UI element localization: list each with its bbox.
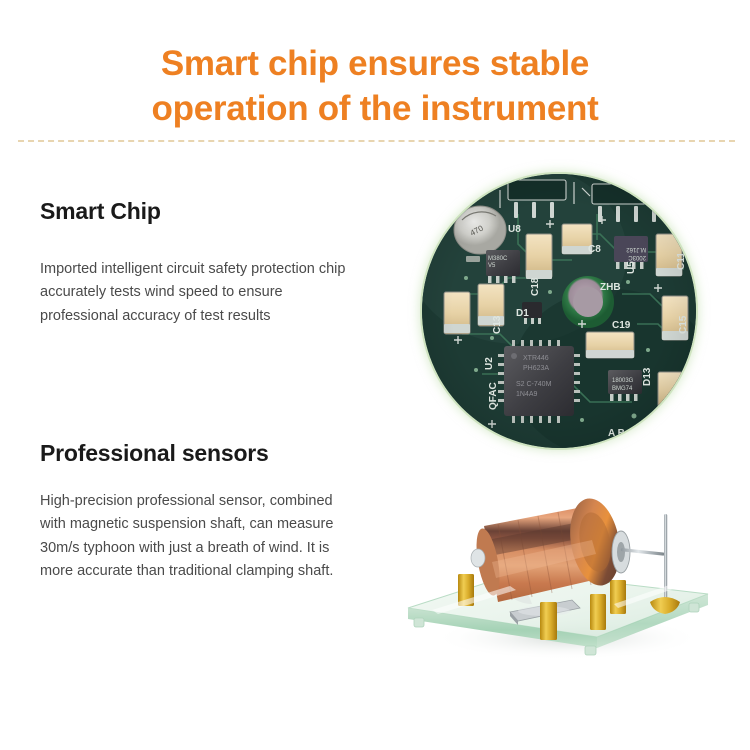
- header: Smart chip ensures stable operation of t…: [0, 42, 750, 132]
- infographic-page: Smart chip ensures stable operation of t…: [0, 0, 750, 750]
- gold-post: [610, 580, 626, 614]
- page-title-line-1: Smart chip ensures stable: [70, 42, 680, 87]
- svg-text:XTR446: XTR446: [523, 355, 549, 362]
- pcb-label-u5: U5: [626, 261, 637, 274]
- section-body-smart-chip: Imported intelligent circuit safety prot…: [40, 258, 358, 328]
- smart-chip-pcb-photo: 470: [415, 167, 703, 455]
- pcb-label-c15: C15: [678, 315, 689, 334]
- gold-post: [590, 594, 606, 630]
- pcb-label-c11: C11: [676, 252, 687, 270]
- pcb-label-u8: U8: [508, 224, 521, 235]
- svg-text:M380C: M380C: [488, 256, 508, 262]
- pcb-label-ab: A B: [608, 428, 625, 439]
- svg-text:1N4A9: 1N4A9: [516, 391, 538, 398]
- gold-post: [540, 602, 557, 640]
- pcb-label-c18: C18: [530, 277, 541, 296]
- svg-text:S2 C-740M: S2 C-740M: [516, 381, 552, 388]
- pcb-label-qfac: QFAC: [488, 382, 499, 410]
- header-divider: [18, 140, 735, 142]
- magnetic-suspension-sensor-photo: [392, 462, 732, 667]
- section-heading-smart-chip: Smart Chip: [40, 198, 161, 225]
- pcb-label-d13: D13: [642, 367, 653, 386]
- svg-text:2003C: 2003C: [628, 254, 646, 260]
- svg-text:M.J162: M.J162: [626, 246, 646, 252]
- svg-text:18003G: 18003G: [612, 378, 634, 384]
- sensor-detail-graphic: [392, 462, 732, 667]
- svg-text:V5: V5: [488, 263, 496, 269]
- pcb-label-d1: D1: [516, 308, 529, 319]
- pcb-board: 470: [422, 174, 696, 448]
- page-title-line-2: operation of the instrument: [70, 87, 680, 132]
- pcb-detail-graphic: 470: [422, 174, 696, 448]
- pcb-label-zhb: ZHB: [600, 282, 621, 293]
- suspension-shaft: [612, 531, 665, 573]
- svg-text:BMG74: BMG74: [612, 386, 633, 392]
- pcb-label-c19: C19: [612, 320, 631, 331]
- page-title: Smart chip ensures stable operation of t…: [0, 42, 750, 132]
- pcb-label-c13: C13: [492, 315, 503, 334]
- pcb-label-c8: C8: [588, 244, 601, 255]
- section-body-professional-sensors: High-precision professional sensor, comb…: [40, 490, 358, 584]
- svg-text:PH623A: PH623A: [523, 365, 549, 372]
- section-heading-professional-sensors: Professional sensors: [40, 440, 269, 467]
- pcb-label-u2: U2: [484, 357, 495, 370]
